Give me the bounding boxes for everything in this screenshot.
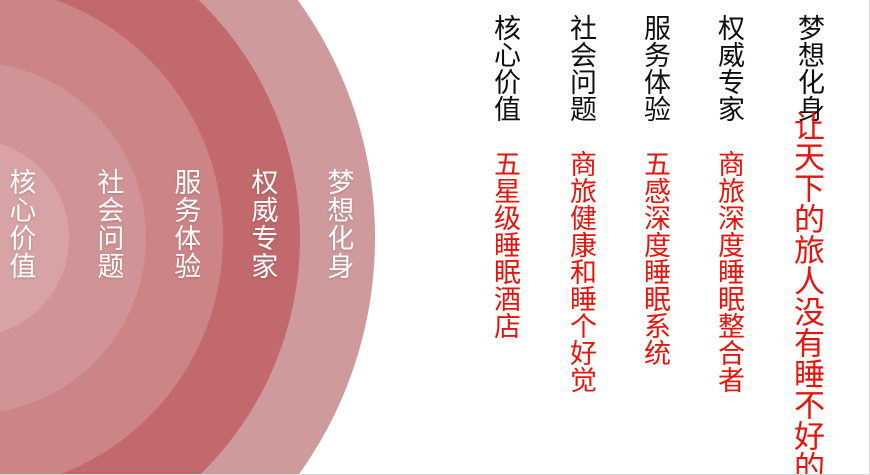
column-body-core-value: 五星级睡眠酒店 xyxy=(472,150,518,339)
column-header-core-value: 核心价值 xyxy=(472,14,518,122)
column-body-dream-embodiment: 让天下的旅人没有睡不好的觉 xyxy=(776,110,822,475)
ring-label-dream-embodiment: 梦想化身 xyxy=(322,168,354,280)
column-core-value: 核心价值 五星级睡眠酒店 xyxy=(472,0,518,475)
column-dream-embodiment: 梦想化身 让天下的旅人没有睡不好的觉 xyxy=(776,0,822,475)
concentric-rings-graphic: 核心价值 社会问题 服务体验 权威专家 梦想化身 xyxy=(0,0,450,475)
ring-label-core-value: 核心价值 xyxy=(4,168,36,280)
ring-label-authority-expert: 权威专家 xyxy=(246,168,278,280)
slide-canvas: 核心价值 社会问题 服务体验 权威专家 梦想化身 核心价值 五星级睡眠酒店 社会… xyxy=(0,0,870,475)
vertical-text-columns: 核心价值 五星级睡眠酒店 社会问题 商旅健康和睡个好觉 服务体验 五感深度睡眠系… xyxy=(450,0,870,475)
column-header-dream-embodiment: 梦想化身 xyxy=(776,14,822,122)
column-body-service-experience: 五感深度睡眠系统 xyxy=(622,150,668,366)
ring-label-service-experience: 服务体验 xyxy=(169,168,201,280)
column-body-authority-expert: 商旅深度睡眠整合者 xyxy=(696,150,742,393)
column-header-authority-expert: 权威专家 xyxy=(696,14,742,122)
column-service-experience: 服务体验 五感深度睡眠系统 xyxy=(622,0,668,475)
column-social-issue: 社会问题 商旅健康和睡个好觉 xyxy=(548,0,594,475)
ring-label-social-issue: 社会问题 xyxy=(92,168,124,280)
column-body-social-issue: 商旅健康和睡个好觉 xyxy=(548,150,594,393)
column-authority-expert: 权威专家 商旅深度睡眠整合者 xyxy=(696,0,742,475)
column-header-service-experience: 服务体验 xyxy=(622,14,668,122)
column-header-social-issue: 社会问题 xyxy=(548,14,594,122)
